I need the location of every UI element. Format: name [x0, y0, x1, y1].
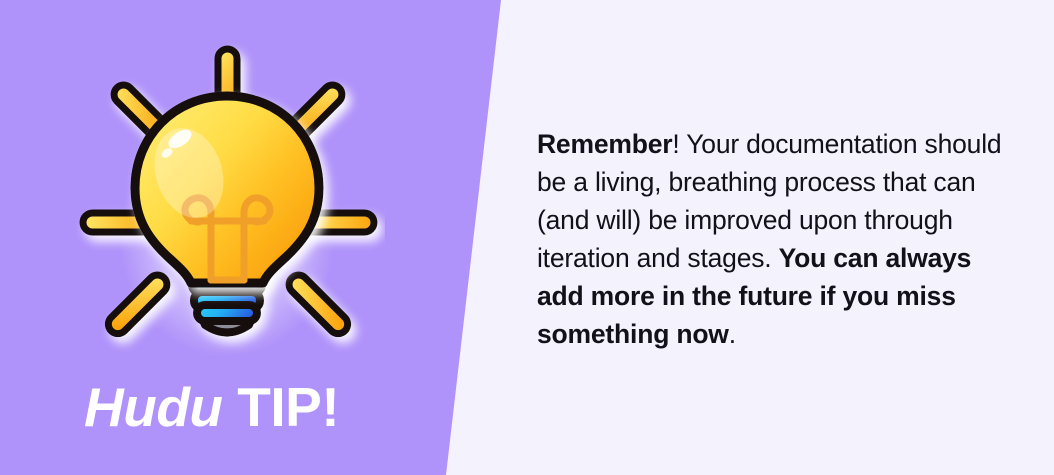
- wordmark-space: [223, 376, 238, 438]
- hudu-tip-wordmark: Hudu TIP!: [84, 378, 339, 436]
- tip-body-text: Remember! Your documentation should be a…: [537, 125, 1017, 353]
- brand-name: Hudu: [84, 376, 223, 438]
- tip-label: TIP!: [237, 376, 339, 438]
- lightbulb-illustration: [75, 35, 385, 355]
- tip-body-part-2: .: [729, 319, 736, 349]
- hudu-tip-card: Hudu TIP! Remember! Your documentation s…: [0, 0, 1054, 475]
- base-ring-4: [197, 305, 257, 321]
- tip-lead-bold: Remember: [537, 129, 672, 159]
